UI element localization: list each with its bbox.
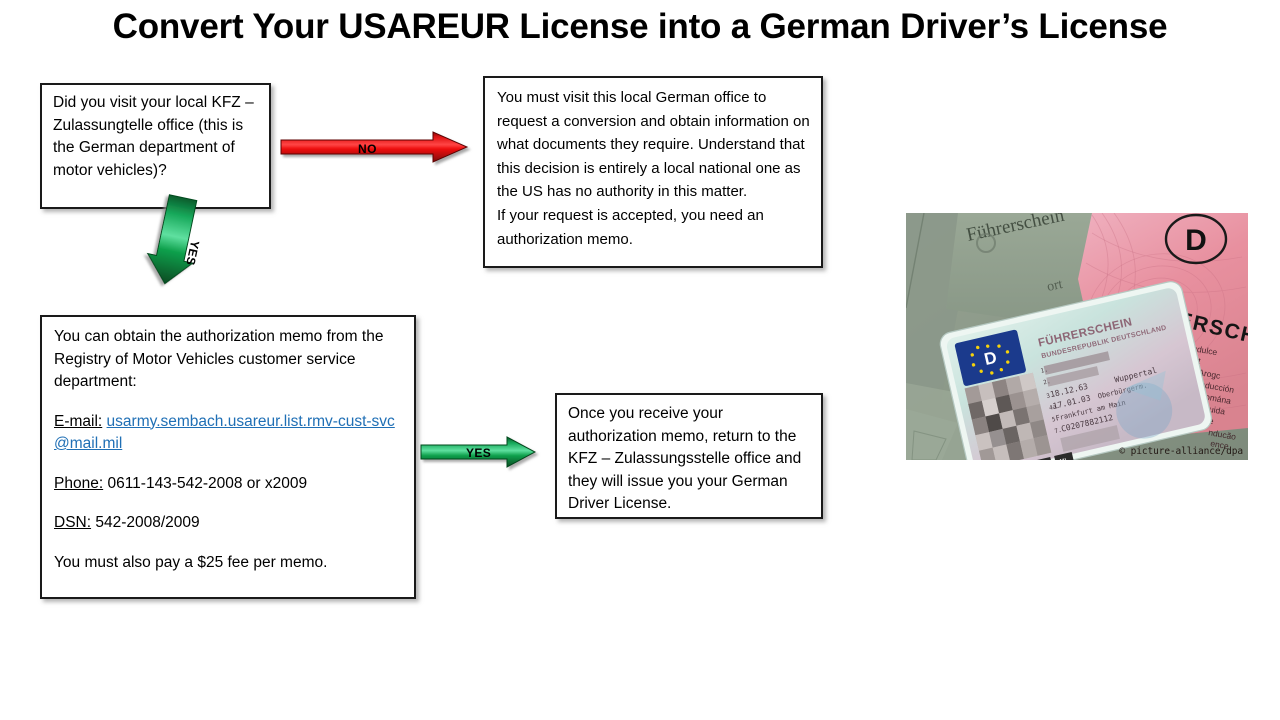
dsn-value: 542-2008/2009 (95, 514, 199, 531)
phone-line: Phone: 0611-143-542-2008 or x2009 (54, 473, 405, 496)
license-photo-svg: Führerschein ort (906, 213, 1248, 460)
paper-license-country-code: D (1185, 224, 1207, 257)
email-line: E-mail: usarmy.sembach.usareur.list.rmv-… (54, 411, 405, 456)
german-license-photo: Führerschein ort (906, 213, 1248, 460)
email-label: E-mail: (54, 413, 102, 430)
issue-license-text: Once you receive your authorization memo… (568, 403, 812, 516)
arrow-yes-right: YES (421, 437, 539, 471)
fee-note: You must also pay a $25 fee per memo. (54, 552, 405, 575)
spacer (54, 456, 405, 473)
flow-box-issue-license: Once you receive your authorization memo… (555, 393, 823, 519)
phone-label: Phone: (54, 475, 103, 492)
dsn-line: DSN: 542-2008/2009 (54, 512, 405, 535)
phone-value: 0611-143-542-2008 or x2009 (107, 475, 307, 492)
visit-office-paragraph-2: If your request is accepted, you need an… (497, 204, 813, 251)
spacer (54, 535, 405, 552)
dsn-label: DSN: (54, 514, 91, 531)
spacer (54, 495, 405, 512)
page-title: Convert Your USAREUR License into a Germ… (0, 6, 1280, 48)
flow-box-memo-contact: You can obtain the authorization memo fr… (40, 315, 416, 599)
svg-text:ort: ort (1046, 277, 1064, 295)
memo-intro: You can obtain the authorization memo fr… (54, 326, 405, 394)
email-link[interactable]: usarmy.sembach.usareur.list.rmv-cust-svc… (54, 413, 395, 453)
photo-credit: © picture-alliance/dpa (1119, 446, 1243, 457)
spacer (54, 394, 405, 411)
arrow-yes-down: YES (158, 212, 238, 308)
question-text: Did you visit your local KFZ – Zulassung… (53, 92, 260, 182)
arrow-no: NO (281, 132, 469, 168)
flow-box-question: Did you visit your local KFZ – Zulassung… (40, 83, 271, 209)
visit-office-paragraph-1: You must visit this local German office … (497, 86, 813, 204)
flow-box-visit-office: You must visit this local German office … (483, 76, 823, 268)
